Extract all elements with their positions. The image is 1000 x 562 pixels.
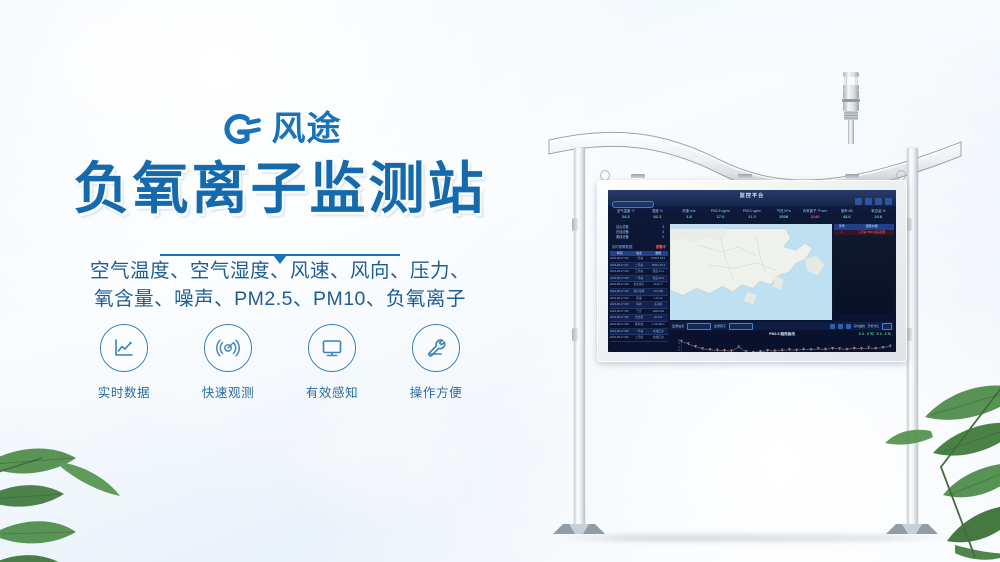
mini-stats: 站点总数 3 在线设备 3 离线设备 0 xyxy=(614,225,666,240)
kpi-card: PM2.5 ug/m³ 17.0 xyxy=(705,208,737,222)
weather-icon[interactable] xyxy=(855,198,862,205)
feature-label: 有效感知 xyxy=(306,382,358,401)
kpi-value: 1008 xyxy=(768,214,800,220)
mini-stat-row: 离线设备 0 xyxy=(614,235,666,240)
table-row[interactable]: 2023-08-17 09:02 噪声监测 43.6 dB xyxy=(610,289,668,296)
brand-logo: 风途 xyxy=(0,108,560,150)
kpi-value: 2140 xyxy=(799,214,831,220)
table-row[interactable]: 2023-08-17 09:04 负氧离子 2140 个 xyxy=(610,282,668,289)
svg-text:22: 22 xyxy=(678,346,680,348)
kpi-value: 31.5 xyxy=(736,214,768,220)
china-region-map-icon[interactable]: ·· ·· xyxy=(670,224,832,320)
brand-name: 风途 xyxy=(272,112,342,146)
alert-panel[interactable]: 序号 报警内容 1 三号站 PM10 超标报警 xyxy=(834,224,894,314)
feature-list: 实时数据 快速观测 xyxy=(0,324,560,401)
factor-select[interactable] xyxy=(729,323,753,330)
status-badge: 报警中 xyxy=(656,244,666,249)
cloud-icon[interactable] xyxy=(875,198,882,205)
dashboard-body: 站点总数 3 在线设备 3 离线设备 0 xyxy=(610,224,894,350)
side-bracket-icon xyxy=(572,218,578,231)
fengtu-g-logo-icon xyxy=(219,108,263,150)
left-panel: 站点总数 3 在线设备 3 离线设备 0 xyxy=(610,224,668,350)
poster-canvas: 风途 负氧离子监测站 空气温度、空气湿度、风速、风向、压力、 氧含量、噪声、PM… xyxy=(0,0,1000,562)
feature-item-realtime-data: 实时数据 xyxy=(85,324,163,401)
kpi-value: 17.0 xyxy=(705,214,737,220)
hero-subtitle: 空气温度、空气湿度、风速、风向、压力、 氧含量、噪声、PM2.5、PM10、负氧… xyxy=(0,258,560,313)
kpi-card: 氧含量 % 20.8 xyxy=(863,208,895,222)
mini-stat-label: 离线设备 xyxy=(616,235,629,240)
menu-icon[interactable] xyxy=(885,198,892,205)
kpi-card: PM10 ug/m³ 31.5 xyxy=(736,208,768,222)
trend-chart-svg: 362922147000:0001:0002:0003:0004:0005:00… xyxy=(670,337,894,352)
panel-title: 实时报警数据 xyxy=(612,244,632,249)
hero-text-block: 风途 负氧离子监测站 空气温度、空气湿度、风速、风向、压力、 氧含量、噪声、PM… xyxy=(0,0,560,562)
table-row[interactable]: 2023-08-17 08:48 二号站 在线正常 xyxy=(610,335,668,342)
feature-label: 快速观测 xyxy=(202,382,254,401)
svg-text:36: 36 xyxy=(678,340,680,342)
table-row[interactable]: 2023-08-17 08:58 风向 东南风 xyxy=(610,302,668,309)
table-row[interactable]: 2023-08-17 09:00 风速 1.8 m/s xyxy=(610,296,668,303)
fullscreen-button[interactable] xyxy=(846,324,851,329)
kpi-value: 1.8 xyxy=(673,214,705,220)
table-row[interactable]: 2023-08-17 09:08 三号站 温度 24.1 xyxy=(610,269,668,276)
alarm-panel-header: 实时报警数据 报警中 xyxy=(610,243,668,250)
page-title: 负氧离子监测站 xyxy=(0,160,560,219)
camera-feed-placeholder xyxy=(834,236,894,314)
wind-icon[interactable] xyxy=(865,198,872,205)
legend-item: 实时曲线 xyxy=(854,324,865,328)
chart-readouts: 24.3℃ 62.1% xyxy=(859,332,892,336)
feature-item-effective-sensing: 有效感知 xyxy=(293,324,371,401)
mount-clip-icon xyxy=(845,174,859,178)
mini-stat-value: 0 xyxy=(662,235,664,240)
subtitle-line-1: 空气温度、空气湿度、风速、风向、压力、 xyxy=(0,258,560,286)
mount-clip-icon xyxy=(738,174,752,178)
table-row[interactable]: 2023-08-17 08:54 氧含量 20.8 % xyxy=(610,315,668,322)
radar-signal-icon xyxy=(204,324,252,372)
export-button[interactable] xyxy=(882,323,892,330)
feature-item-easy-operation: 操作方便 xyxy=(397,324,475,401)
side-bracket-icon xyxy=(572,328,578,341)
kpi-value: 43.6 xyxy=(831,214,863,220)
table-row[interactable]: 2023-08-17 09:10 二号站 PM10 30.4 xyxy=(610,263,668,270)
table-row[interactable]: 2023-08-17 09:06 一号站 湿度 62.5 xyxy=(610,276,668,283)
base-plate-icon xyxy=(884,520,940,536)
table-row[interactable]: 2023-08-17 08:52 紫外线 1.26 W/m² xyxy=(610,322,668,329)
svg-text:14: 14 xyxy=(678,350,680,352)
feature-label: 操作方便 xyxy=(410,382,462,401)
svg-text:29: 29 xyxy=(678,343,680,345)
kpi-card: 空气温度 ℃ 24.3 xyxy=(610,208,642,222)
view-toggle-button[interactable] xyxy=(830,324,835,329)
dashboard-header-icons[interactable] xyxy=(855,198,892,205)
monitor-screen-icon xyxy=(308,324,356,372)
legend-item: 历史对比 xyxy=(868,324,879,328)
factor-select-label: 监测因子 xyxy=(714,324,726,328)
login-chip[interactable] xyxy=(612,201,654,208)
dashboard-app[interactable]: 监控平台 空气温度 ℃ 24.3 湿度 % xyxy=(608,190,896,352)
ground-shadow xyxy=(553,534,953,542)
table-row[interactable]: 2023-08-17 08:56 气压 1008 hPa xyxy=(610,309,668,316)
chart-control-bar[interactable]: 监测站点 监测因子 实时曲线 历史对比 xyxy=(670,322,894,330)
wrench-icon xyxy=(412,324,460,372)
map-panel[interactable]: ·· ·· xyxy=(670,224,832,320)
line-chart-icon xyxy=(100,324,148,372)
kpi-card: 负氧离子 个/cm³ 2140 xyxy=(799,208,831,222)
kpi-card: 湿度 % 62.1 xyxy=(642,208,674,222)
kpi-card: 气压 hPa 1008 xyxy=(768,208,800,222)
kpi-value: 20.8 xyxy=(863,214,895,220)
table-row[interactable]: 2023-08-17 08:50 一号站 在线正常 xyxy=(610,329,668,336)
kpi-value: 62.1 xyxy=(642,214,674,220)
lcd-screen[interactable]: 监控平台 空气温度 ℃ 24.3 湿度 % xyxy=(608,190,896,352)
base-plate-icon xyxy=(551,520,607,536)
station-select[interactable] xyxy=(687,323,711,330)
alarm-table[interactable]: 时间 站点 数据 2023-08-17 09:12 一号站 PM2.5 18.2 xyxy=(610,251,668,342)
table-row[interactable]: 2023-08-17 09:12 一号站 PM2.5 18.2 xyxy=(610,256,668,263)
kpi-card: 风速 m/s 1.8 xyxy=(673,208,705,222)
kpi-value: 24.3 xyxy=(610,214,642,220)
kpi-strip: 空气温度 ℃ 24.3 湿度 % 62.1 风速 m/s 1.8 PM2.5 xyxy=(610,208,894,222)
kpi-card: 噪声 dB 43.6 xyxy=(831,208,863,222)
monitoring-station-kiosk: 监控平台 空气温度 ℃ 24.3 湿度 % xyxy=(545,70,965,530)
station-select-label: 监测站点 xyxy=(672,324,684,328)
feature-label: 实时数据 xyxy=(98,382,150,401)
display-enclosure: 监控平台 空气温度 ℃ 24.3 湿度 % xyxy=(597,180,907,362)
feature-item-fast-observation: 快速观测 xyxy=(189,324,267,401)
refresh-button[interactable] xyxy=(838,324,843,329)
trend-chart-panel: PM2.5 趋势曲线 24.3℃ 62.1% 362922147000:0001… xyxy=(670,331,894,350)
subtitle-line-2: 氧含量、噪声、PM2.5、PM10、负氧离子 xyxy=(0,286,560,314)
dashboard-title: 监控平台 xyxy=(608,192,896,199)
alert-row[interactable]: 1 三号站 PM10 超标报警 xyxy=(834,230,894,236)
mount-clip-icon xyxy=(631,174,645,178)
